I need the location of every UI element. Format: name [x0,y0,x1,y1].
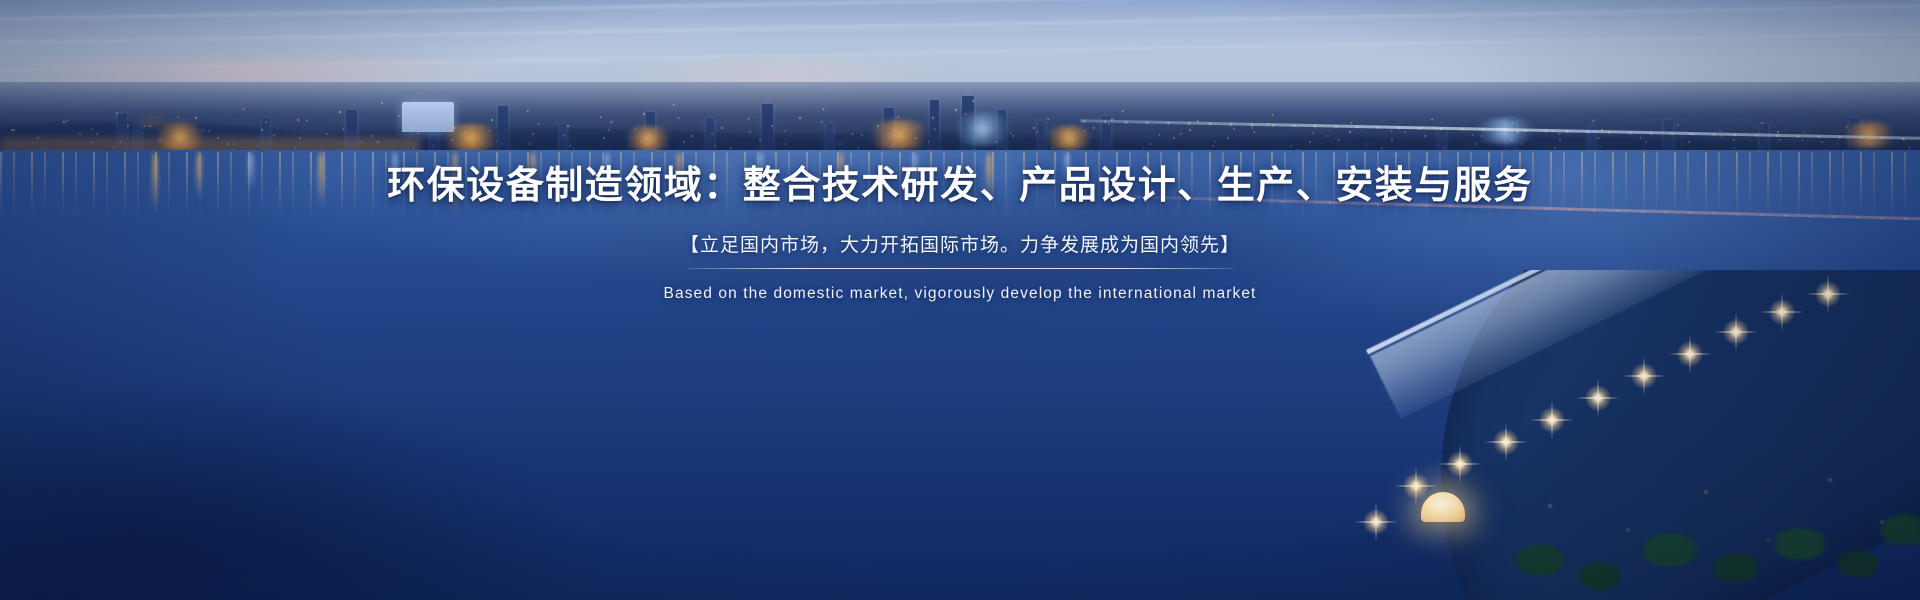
street-lamp [1631,363,1657,389]
waterfront-shore [1220,270,1920,600]
hero-banner: 环保设备制造领域：整合技术研发、产品设计、生产、安装与服务 【立足国内市场，大力… [0,0,1920,600]
banner-copy: 环保设备制造领域：整合技术研发、产品设计、生产、安装与服务 【立足国内市场，大力… [0,163,1920,305]
street-lamp [1403,473,1429,499]
banner-headline: 环保设备制造领域：整合技术研发、产品设计、生产、安装与服务 [0,163,1920,209]
street-lamp [1677,341,1703,367]
banner-english-line: Based on the domestic market, vigorously… [0,283,1920,305]
shore-warm-lights [1510,410,1910,570]
street-lamp [1585,385,1611,411]
street-lamp [1363,509,1389,535]
banner-subline: 【立足国内市场，大力开拓国际市场。力争发展成为国内领先】 [0,233,1920,259]
water-shadow-left [0,330,900,600]
street-lamp [1447,451,1473,477]
street-lamp [1723,319,1749,345]
divider-rule [688,268,1233,269]
